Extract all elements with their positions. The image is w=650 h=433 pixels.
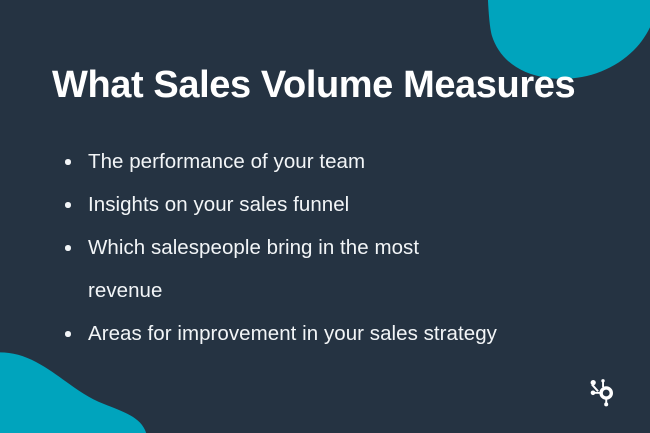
- bullet-list: The performance of your team Insights on…: [60, 140, 630, 355]
- list-item-label: Which salespeople bring in the most: [88, 236, 419, 259]
- list-item: Which salespeople bring in the most: [60, 226, 630, 269]
- list-item-continuation: revenue: [60, 269, 630, 312]
- list-item: The performance of your team: [60, 140, 630, 183]
- bullet-dot-icon: [65, 331, 71, 337]
- list-item-label: Insights on your sales funnel: [88, 193, 349, 216]
- page-title: What Sales Volume Measures: [52, 62, 622, 108]
- list-item-label: Areas for improvement in your sales stra…: [88, 322, 497, 345]
- slide-canvas: What Sales Volume Measures The performan…: [0, 0, 650, 433]
- list-item-label: The performance of your team: [88, 150, 365, 173]
- bullet-dot-icon: [65, 245, 71, 251]
- list-item: Insights on your sales funnel: [60, 183, 630, 226]
- bullet-dot-icon: [65, 159, 71, 165]
- blob-bottom-left-icon: [0, 352, 148, 433]
- list-item-label: revenue: [88, 279, 162, 302]
- hubspot-sprocket-logo-icon: [590, 379, 616, 407]
- bullet-dot-icon: [65, 202, 71, 208]
- list-item: Areas for improvement in your sales stra…: [60, 312, 630, 355]
